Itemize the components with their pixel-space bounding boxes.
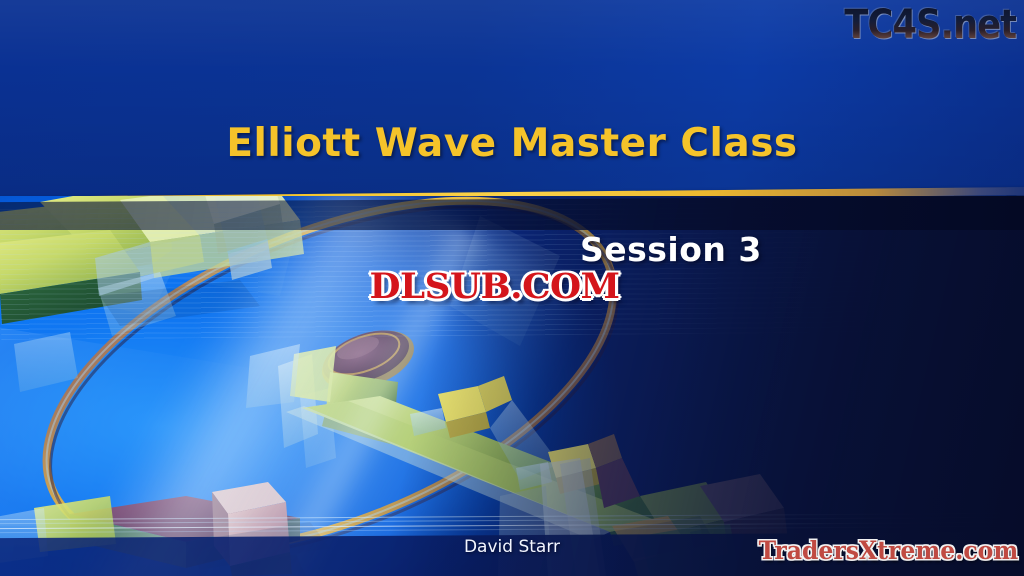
slide-artwork-stage (0, 196, 1024, 576)
presentation-slide: TC4S.net Elliott Wave Master Class (0, 0, 1024, 576)
session-label: Session 3 (580, 230, 762, 269)
watermark-dlsub: DLSUB.COM (370, 266, 620, 307)
stage-dark-overlay-top (0, 196, 1024, 576)
watermark-tc4s: TC4S.net (844, 2, 1016, 48)
page-title: Elliott Wave Master Class (0, 121, 1024, 166)
watermark-tradersxtreme: TradersXtreme.com (758, 536, 1018, 565)
